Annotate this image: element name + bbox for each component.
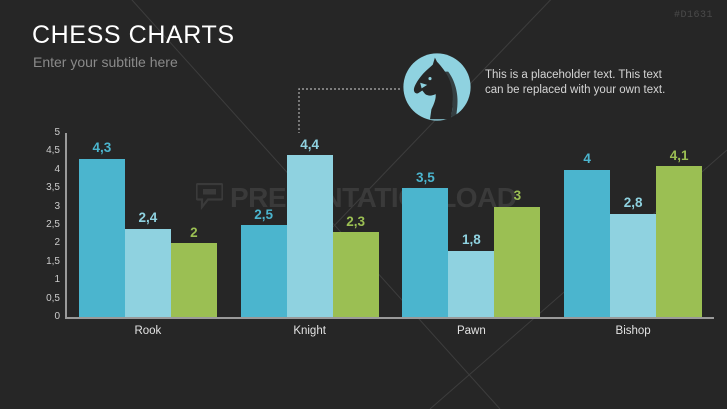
y-axis-tick: 0,5	[46, 294, 60, 304]
bar-value-label: 4,4	[287, 138, 333, 152]
bar-value-label: 4	[564, 152, 610, 166]
page-title: CHESS CHARTS	[32, 21, 235, 50]
bar[interactable]	[125, 229, 171, 317]
bar[interactable]	[610, 214, 656, 317]
y-axis-tick: 3	[54, 202, 60, 212]
bar[interactable]	[494, 207, 540, 317]
callout-text-line-2: can be replaced with your own text.	[485, 84, 665, 96]
bar[interactable]	[448, 251, 494, 317]
bar[interactable]	[564, 170, 610, 317]
y-axis-tick: 3,5	[46, 183, 60, 193]
bar[interactable]	[656, 166, 702, 317]
bar[interactable]	[287, 155, 333, 317]
callout-text-line-1: This is a placeholder text. This text	[485, 69, 662, 81]
plot-area: 4,32,422,54,42,33,51,8342,84,1	[67, 133, 714, 317]
x-axis-category-label: Pawn	[391, 325, 553, 337]
bar-value-label: 4,1	[656, 149, 702, 163]
bar[interactable]	[402, 188, 448, 317]
slide-code-label: #D1631	[674, 10, 713, 21]
page-subtitle[interactable]: Enter your subtitle here	[33, 54, 178, 70]
bar[interactable]	[79, 159, 125, 317]
bar-value-label: 2	[171, 226, 217, 240]
bar-value-label: 2,4	[125, 211, 171, 225]
bar[interactable]	[241, 225, 287, 317]
y-axis-tick: 5	[54, 128, 60, 138]
bar-value-label: 4,3	[79, 141, 125, 155]
bar-value-label: 2,8	[610, 196, 656, 210]
bar[interactable]	[333, 232, 379, 317]
bar[interactable]	[171, 243, 217, 317]
chess-knight-icon	[402, 52, 472, 122]
x-axis-category-label: Rook	[67, 325, 229, 337]
bar-value-label: 2,5	[241, 208, 287, 222]
bar-value-label: 3	[494, 189, 540, 203]
y-axis-tick: 1	[54, 275, 60, 285]
x-axis-category-label: Bishop	[552, 325, 714, 337]
x-axis-line	[65, 317, 714, 319]
y-axis-tick: 4	[54, 165, 60, 175]
y-axis-tick: 4,5	[46, 146, 60, 156]
callout-placeholder-text[interactable]: This is a placeholder text. This text ca…	[485, 68, 700, 98]
y-axis-tick: 0	[54, 312, 60, 322]
bar-value-label: 3,5	[402, 171, 448, 185]
bar-value-label: 2,3	[333, 215, 379, 229]
y-axis-tick: 2	[54, 238, 60, 248]
x-axis-category-label: Knight	[229, 325, 391, 337]
y-axis-tick: 1,5	[46, 257, 60, 267]
y-axis-tick: 2,5	[46, 220, 60, 230]
slide-canvas: #D1631 CHESS CHARTS Enter your subtitle …	[0, 0, 727, 409]
bar-value-label: 1,8	[448, 233, 494, 247]
